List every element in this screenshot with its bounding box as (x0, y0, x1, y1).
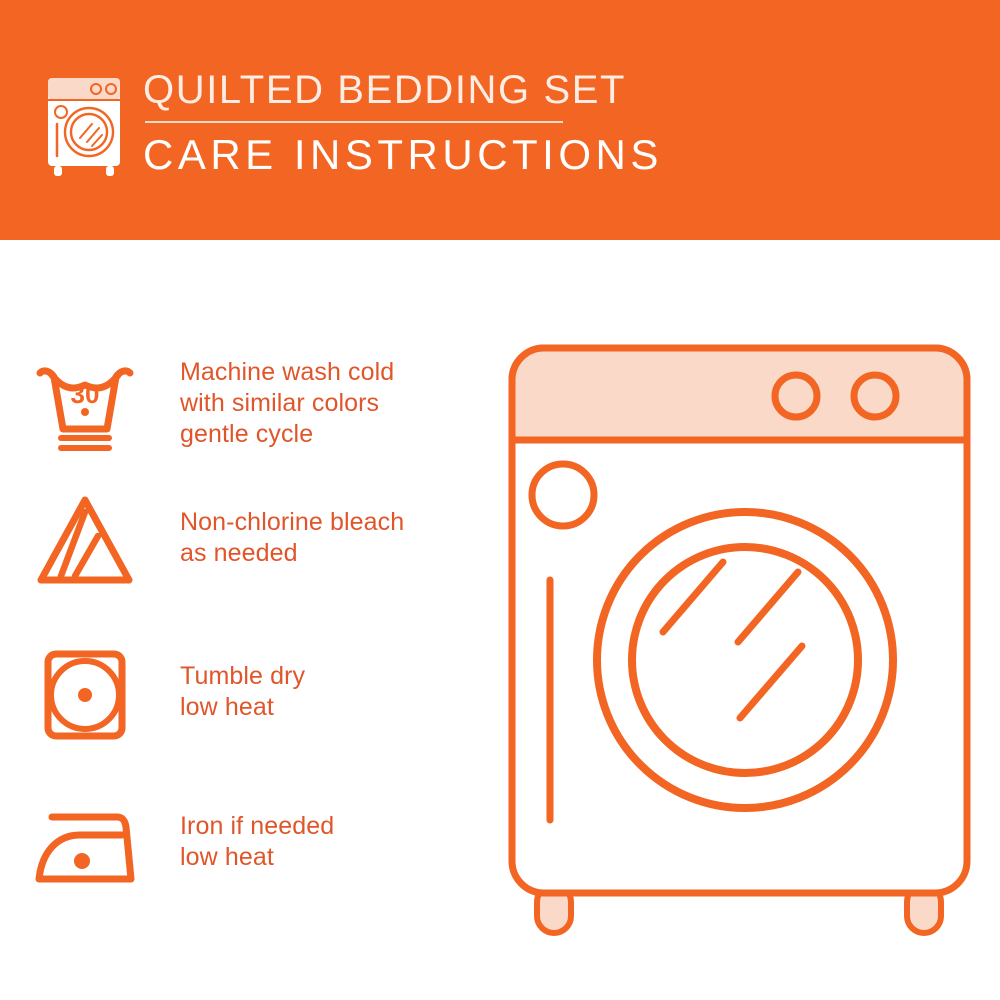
care-instructions-page: QUILTED BEDDING SET CARE INSTRUCTIONS 30… (0, 0, 1000, 1000)
header-title-group: QUILTED BEDDING SET CARE INSTRUCTIONS (143, 66, 743, 181)
title-divider (145, 121, 563, 123)
care-line: Machine wash cold (180, 357, 394, 388)
care-item-text: Machine wash cold with similar colors ge… (180, 345, 394, 450)
care-line: as needed (180, 538, 404, 569)
header-banner: QUILTED BEDDING SET CARE INSTRUCTIONS (0, 0, 1000, 240)
care-line: Tumble dry (180, 661, 305, 692)
washing-machine-icon (44, 74, 124, 178)
care-item-iron: Iron if needed low heat (0, 785, 480, 905)
iron-low-heat-icon (20, 785, 150, 905)
page-title: QUILTED BEDDING SET (143, 66, 743, 114)
care-item-machine-wash: 30 Machine wash cold with similar colors… (0, 345, 480, 465)
care-item-text: Iron if needed low heat (180, 785, 334, 873)
care-item-text: Tumble dry low heat (180, 635, 305, 723)
tumble-dry-low-heat-icon (20, 635, 150, 755)
care-line: Non-chlorine bleach (180, 507, 404, 538)
care-item-bleach: Non-chlorine bleach as needed (0, 480, 480, 600)
front-load-washing-machine-illustration (495, 330, 975, 940)
care-line: with similar colors (180, 388, 394, 419)
care-item-text: Non-chlorine bleach as needed (180, 480, 404, 569)
care-line: Iron if needed (180, 811, 334, 842)
care-instruction-list: 30 Machine wash cold with similar colors… (0, 240, 500, 1000)
wash-temperature-value: 30 (71, 379, 100, 409)
non-chlorine-bleach-triangle-icon (20, 480, 150, 600)
care-line: gentle cycle (180, 419, 394, 450)
page-subtitle: CARE INSTRUCTIONS (143, 129, 743, 181)
care-item-tumble-dry: Tumble dry low heat (0, 635, 480, 755)
care-line: low heat (180, 692, 305, 723)
wash-tub-30-gentle-icon: 30 (20, 345, 150, 465)
care-line: low heat (180, 842, 334, 873)
